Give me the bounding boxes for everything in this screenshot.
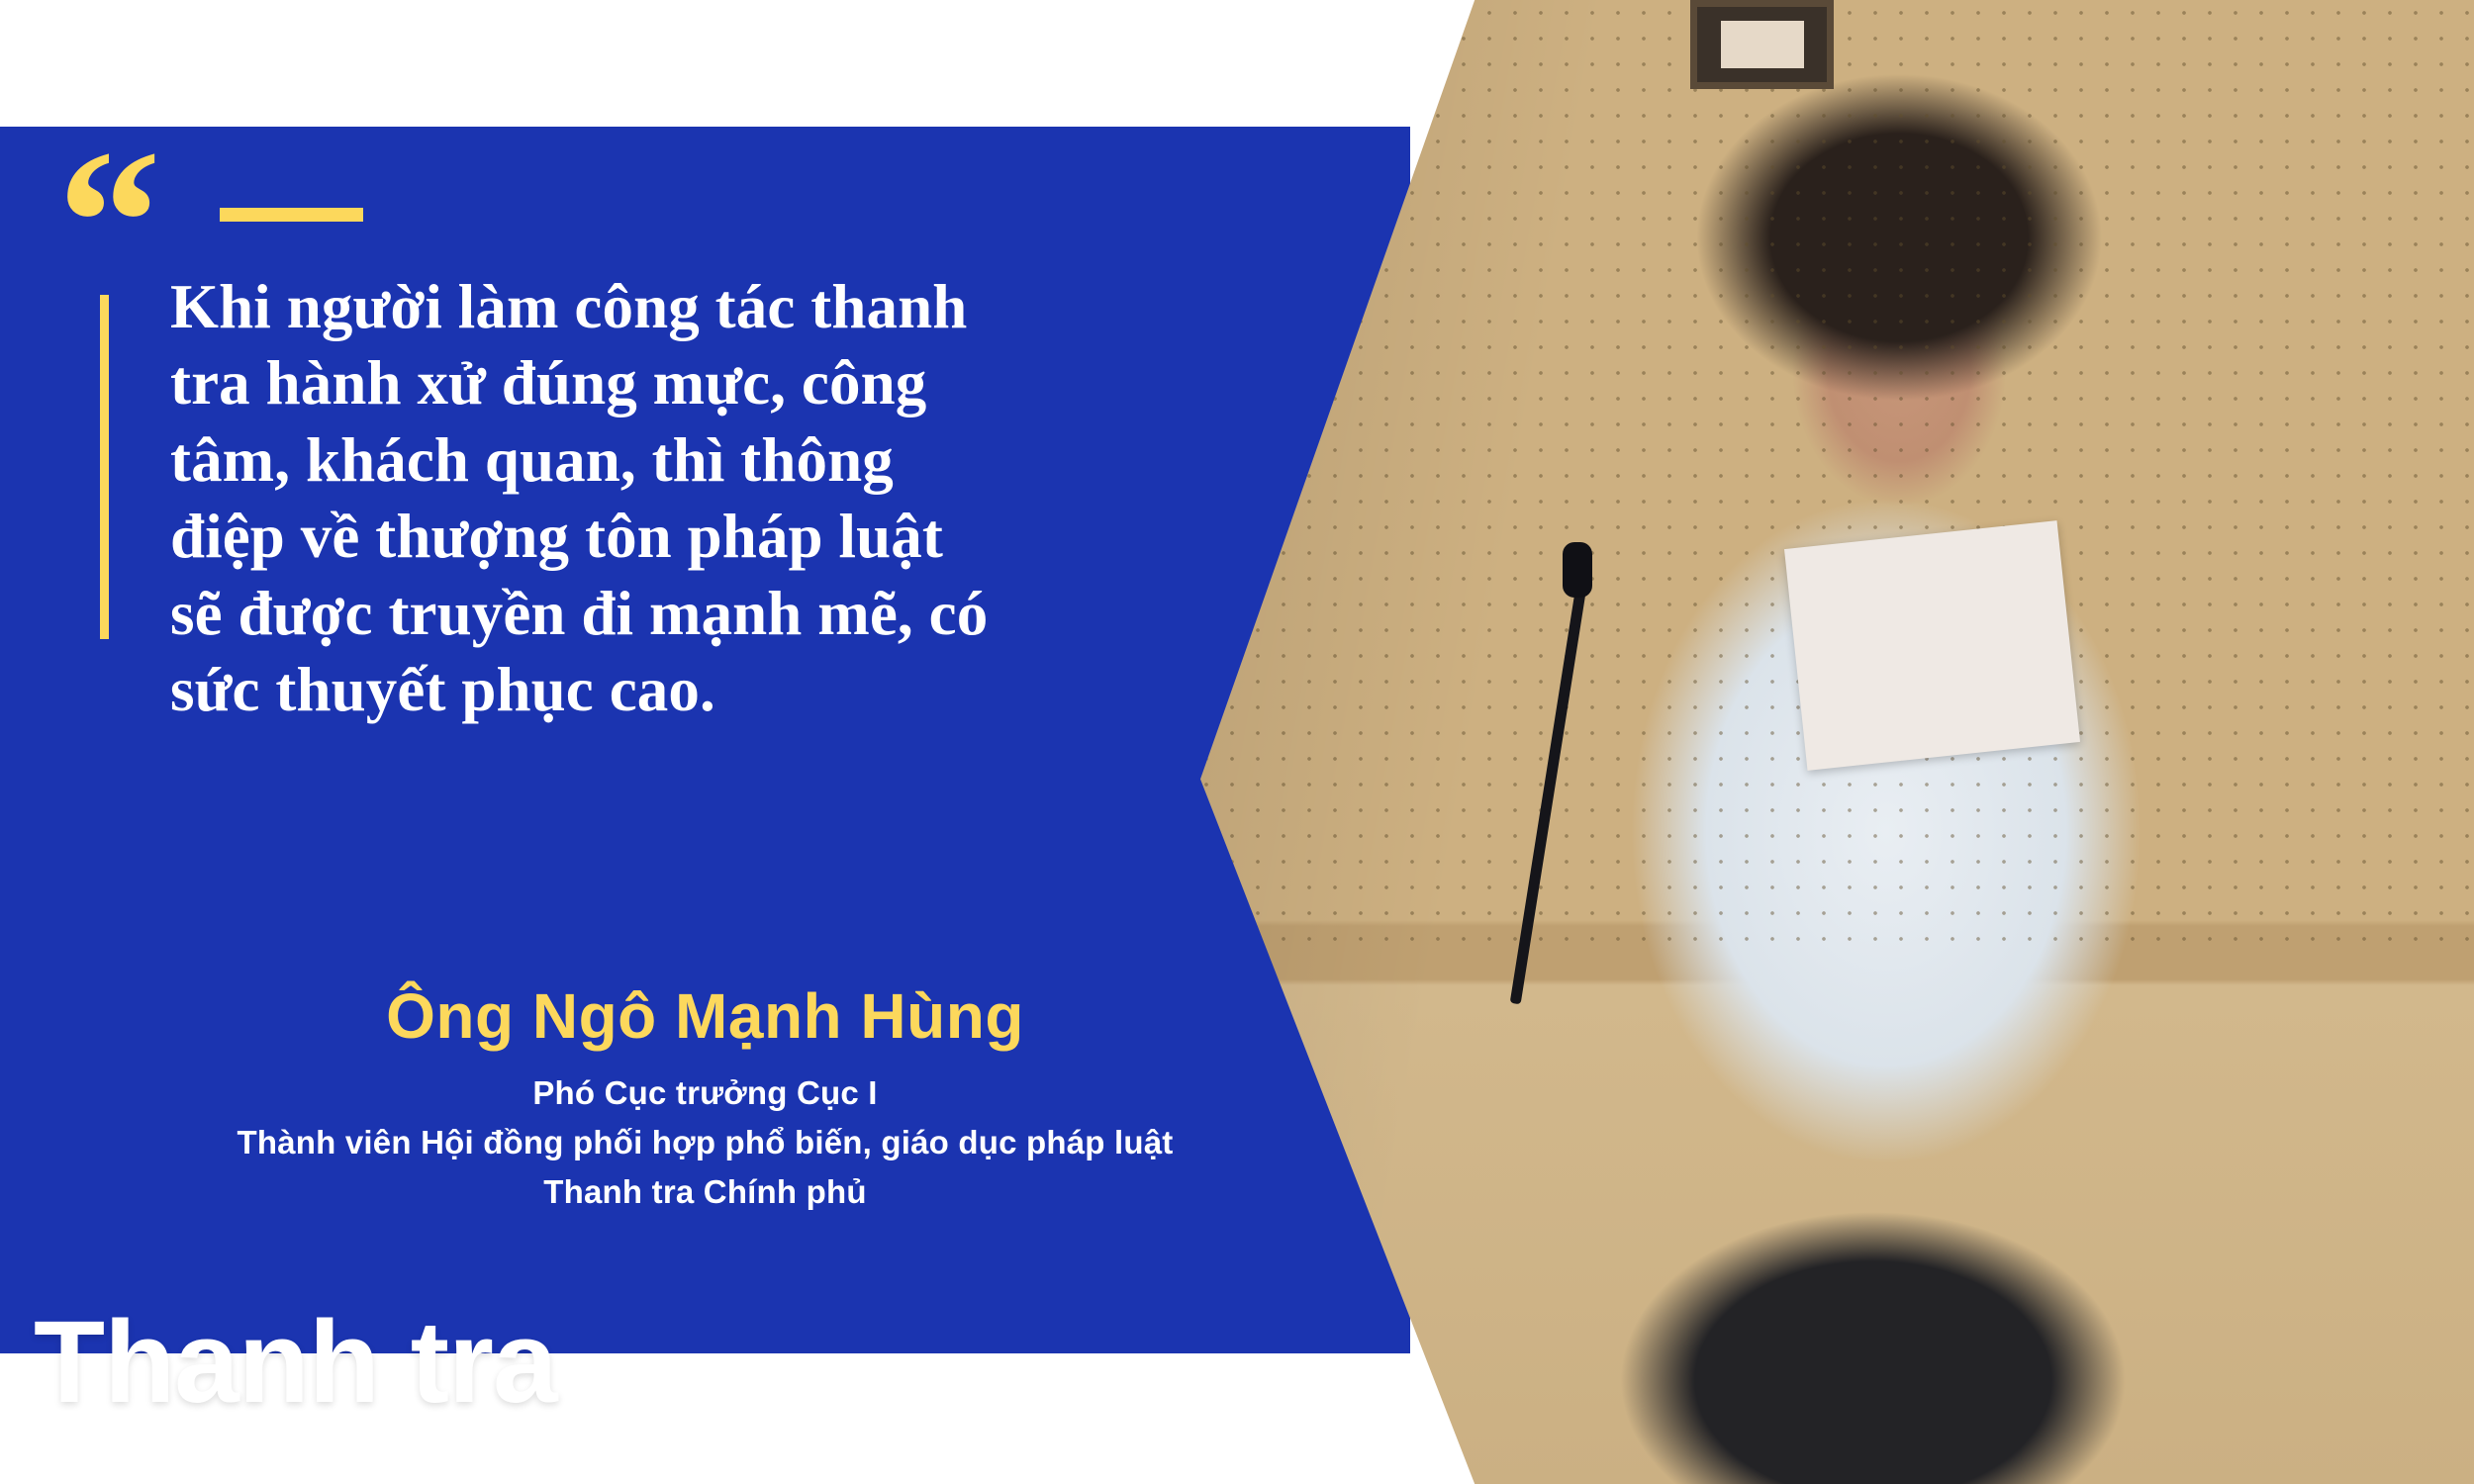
speaker-affiliation-line-1: Thành viên Hội đồng phối hợp phổ biến, g… — [0, 1118, 1410, 1167]
speaker-role: Phó Cục trưởng Cục I — [0, 1068, 1410, 1118]
quote-dash-rule — [220, 208, 363, 222]
speaker-name: Ông Ngô Mạnh Hùng — [0, 979, 1410, 1055]
quote-line: Khi người làm công tác thanh — [170, 269, 1219, 345]
quote-line: điệp về thượng tôn pháp luật — [170, 499, 1219, 575]
infographic-quote-card: “ Khi người làm công tác thanh tra hành … — [0, 0, 2474, 1484]
quote-line: sẽ được truyền đi mạnh mẽ, có — [170, 576, 1219, 652]
quote-text: Khi người làm công tác thanh tra hành xử… — [170, 269, 1219, 729]
quote-mark-icon: “ — [57, 148, 159, 298]
quote-accent-bar — [100, 295, 109, 639]
watermark-logo: Thanh tra — [34, 1304, 557, 1421]
attribution-block: Ông Ngô Mạnh Hùng Phó Cục trưởng Cục I T… — [0, 979, 1410, 1217]
quote-line: tra hành xử đúng mực, công — [170, 345, 1219, 421]
speaker-affiliation-line-2: Thanh tra Chính phủ — [0, 1167, 1410, 1217]
quote-line: tâm, khách quan, thì thông — [170, 422, 1219, 499]
quote-line: sức thuyết phục cao. — [170, 652, 1219, 728]
